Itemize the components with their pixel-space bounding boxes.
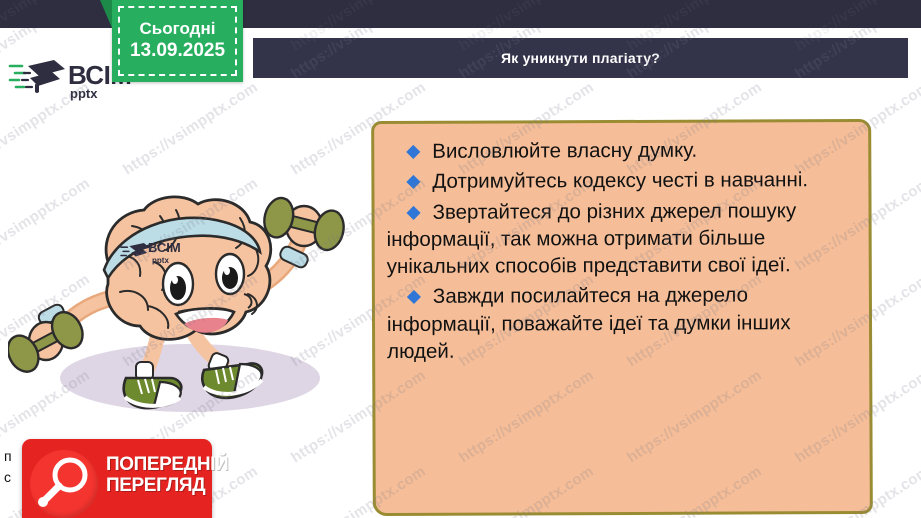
- magnifier-icon: [30, 450, 98, 518]
- list-item-text: Звертайтеся до різних джерел пошуку інфо…: [387, 199, 797, 278]
- slide-canvas: ВСІМ pptx: [0, 28, 921, 518]
- brand-logo: ВСІМ pptx: [8, 58, 128, 108]
- preview-line-1: ПОПЕРЕДНІЙ: [106, 454, 208, 475]
- tips-list: Висловлюйте власну думку. Дотримуйтесь к…: [386, 136, 859, 365]
- watermark-text: https://vsimpptx.com: [120, 79, 261, 179]
- slide-viewer: ВСІМ pptx: [0, 0, 921, 518]
- slide-title-bar: Як уникнути плагіату?: [253, 38, 908, 78]
- obscured-line-1: п: [4, 446, 12, 467]
- preview-badge[interactable]: ПОПЕРЕДНІЙ ПЕРЕГЛЯД: [22, 439, 212, 518]
- page-title: Як уникнути плагіату?: [501, 50, 660, 66]
- brain-mascot-illustration: ВСІМ pptx: [8, 166, 353, 428]
- obscured-line-2: с: [4, 467, 12, 488]
- diamond-bullet-icon: [406, 175, 420, 189]
- graduation-cap-icon: [8, 58, 66, 104]
- badge-inner: Сьогодні 13.09.2025: [118, 6, 237, 76]
- diamond-bullet-icon: [406, 145, 420, 159]
- date-label: Сьогодні: [140, 20, 216, 39]
- diamond-bullet-icon: [406, 205, 420, 219]
- preview-line-2: ПЕРЕГЛЯД: [106, 475, 208, 496]
- list-item-text: Висловлюйте власну думку.: [432, 139, 697, 163]
- list-item-text: Дотримуйтесь кодексу честі в навчанні.: [432, 168, 808, 193]
- list-item: Звертайтеся до різних джерел пошуку інфо…: [386, 196, 858, 280]
- list-item: Дотримуйтесь кодексу честі в навчанні.: [386, 166, 858, 195]
- date-value: 13.09.2025: [130, 41, 225, 62]
- list-item: Висловлюйте власну думку.: [386, 136, 858, 165]
- brand-suffix: pptx: [70, 87, 97, 100]
- obscured-text: п с: [4, 446, 12, 488]
- list-item-text: Завжди посилайтеся на джерело інформації…: [387, 284, 791, 363]
- svg-text:ВСІМ: ВСІМ: [148, 240, 181, 255]
- badge-fold: [100, 0, 112, 28]
- content-panel: Висловлюйте власну думку. Дотримуйтесь к…: [371, 119, 873, 516]
- list-item: Завжди посилайтеся на джерело інформації…: [387, 281, 859, 365]
- today-date-badge: Сьогодні 13.09.2025: [112, 0, 243, 82]
- diamond-bullet-icon: [407, 290, 421, 304]
- svg-text:pptx: pptx: [152, 256, 169, 265]
- preview-badge-label: ПОПЕРЕДНІЙ ПЕРЕГЛЯД: [106, 454, 208, 497]
